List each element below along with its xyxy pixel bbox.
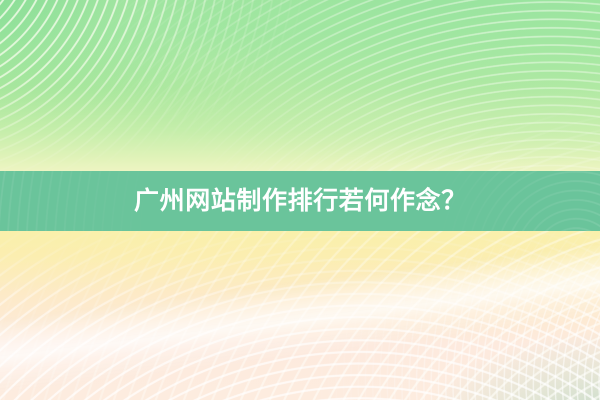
headline-text: 广州网站制作排行若何作念？ [134,189,467,214]
headline-band: 广州网站制作排行若何作念？ [0,171,600,231]
decorative-banner: 广州网站制作排行若何作念？ [0,0,600,400]
